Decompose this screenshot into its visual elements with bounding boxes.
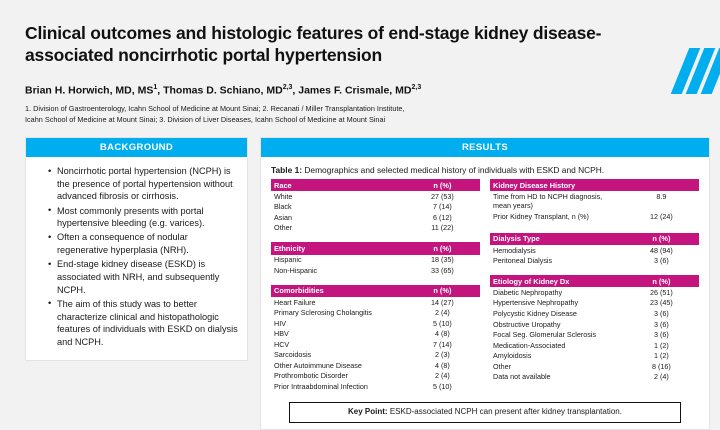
table-row: Prothrombotic Disorder2 (4) (271, 371, 480, 382)
table-row: Diabetic Nephropathy26 (51) (490, 287, 699, 298)
author-2-affiliation-marker: 2,3 (283, 84, 293, 91)
cell-label: Focal Seg. Glomerular Sclerosis (490, 329, 624, 340)
column-header-value (624, 179, 699, 191)
cell-value: 2 (4) (405, 371, 480, 382)
cell-label: Sarcoidosis (271, 350, 405, 361)
cell-value: 27 (53) (405, 191, 480, 202)
affiliation-line-2: Icahn School of Medicine at Mount Sinai;… (25, 115, 495, 125)
cell-label: HBV (271, 329, 405, 340)
cell-value: 4 (8) (405, 329, 480, 340)
table-row: HBV4 (8) (271, 329, 480, 340)
column-header-label: Etiology of Kidney Dx (490, 275, 624, 287)
table-row: Hispanic18 (35) (271, 255, 480, 266)
cell-value: 12 (24) (624, 211, 699, 222)
column-header-value: n (%) (624, 275, 699, 287)
results-panel: RESULTS Table 1: Demographics and select… (260, 137, 710, 430)
cell-label: Prothrombotic Disorder (271, 371, 405, 382)
cell-value: 3 (6) (624, 319, 699, 330)
cell-value: 3 (6) (624, 308, 699, 319)
cell-label: Obstructive Uropathy (490, 319, 624, 330)
cell-value: 8 (16) (624, 361, 699, 372)
cell-label: Hemodialysis (490, 245, 624, 256)
cell-label: Heart Failure (271, 297, 405, 308)
cell-value: 2 (3) (405, 350, 480, 361)
table-header-row: Etiology of Kidney Dx n (%) (490, 275, 699, 287)
key-point-label: Key Point: (348, 407, 388, 416)
author-3-name: , James F. Crismale, MD (292, 84, 411, 96)
column-header-label: Dialysis Type (490, 233, 624, 245)
list-item: End-stage kidney disease (ESKD) is assoc… (48, 258, 238, 296)
column-header-value: n (%) (405, 285, 480, 297)
cell-value: 18 (35) (405, 255, 480, 266)
table-row: Time from HD to NCPH diagnosis, mean yea… (490, 191, 699, 211)
cell-label: Black (271, 202, 405, 213)
author-list: Brian H. Horwich, MD, MS1, Thomas D. Sch… (25, 84, 692, 97)
table-row: Prior Intraabdominal Infection5 (10) (271, 381, 480, 392)
cell-value: 1 (2) (624, 340, 699, 351)
table-comorbidities: Comorbidities n (%) Heart Failure14 (27)… (271, 285, 480, 392)
cell-label: Amyloidosis (490, 351, 624, 362)
table-row: Other11 (22) (271, 223, 480, 234)
mount-sinai-logo-icon (668, 48, 720, 94)
table-dialysis-type: Dialysis Type n (%) Hemodialysis48 (94) … (490, 233, 699, 266)
cell-label: Diabetic Nephropathy (490, 287, 624, 298)
cell-value: 2 (4) (624, 372, 699, 383)
column-header-label: Ethnicity (271, 242, 405, 254)
table-row: Black7 (14) (271, 202, 480, 213)
author-3-affiliation-marker: 2,3 (411, 84, 421, 91)
background-bullet-list: Noncirrhotic portal hypertension (NCPH) … (35, 165, 238, 349)
list-item: Often a consequence of nodular regenerat… (48, 231, 238, 256)
cell-label: Other Autoimmune Disease (271, 360, 405, 371)
cell-value: 33 (65) (405, 265, 480, 276)
table-kidney-disease-history: Kidney Disease History Time from HD to N… (490, 179, 699, 222)
tables-left-column: Race n (%) White27 (53) Black7 (14) Asia… (271, 179, 480, 401)
table-row: Sarcoidosis2 (3) (271, 350, 480, 361)
results-panel-body: Table 1: Demographics and selected medic… (261, 157, 709, 429)
table-caption-text: Demographics and selected medical histor… (304, 165, 604, 175)
cell-value: 48 (94) (624, 245, 699, 256)
table-row: HCV7 (14) (271, 339, 480, 350)
cell-value: 26 (51) (624, 287, 699, 298)
table-row: Focal Seg. Glomerular Sclerosis3 (6) (490, 329, 699, 340)
cell-label: Prior Kidney Transplant, n (%) (490, 211, 624, 222)
table-row: Prior Kidney Transplant, n (%)12 (24) (490, 211, 699, 222)
cell-value: 3 (6) (624, 256, 699, 267)
poster-header: Clinical outcomes and histologic feature… (0, 0, 720, 125)
background-section-heading: BACKGROUND (26, 138, 247, 157)
table-row: Data not available2 (4) (490, 372, 699, 383)
key-point-text: ESKD-associated NCPH can present after k… (390, 407, 622, 416)
column-header-label: Comorbidities (271, 285, 405, 297)
table-row: Amyloidosis1 (2) (490, 351, 699, 362)
tables-right-column: Kidney Disease History Time from HD to N… (490, 179, 699, 401)
cell-label: White (271, 191, 405, 202)
table-race: Race n (%) White27 (53) Black7 (14) Asia… (271, 179, 480, 233)
table-header-row: Dialysis Type n (%) (490, 233, 699, 245)
list-item: The aim of this study was to better char… (48, 298, 238, 349)
table-row: Other8 (16) (490, 361, 699, 372)
table-row: White27 (53) (271, 191, 480, 202)
results-section-heading: RESULTS (261, 138, 709, 157)
column-header-label: Kidney Disease History (490, 179, 624, 191)
author-1-name: Brian H. Horwich, MD, MS (25, 84, 153, 96)
column-header-value: n (%) (405, 242, 480, 254)
column-header-label: Race (271, 179, 405, 191)
table-row: Hemodialysis48 (94) (490, 245, 699, 256)
cell-value: 6 (12) (405, 212, 480, 223)
table-header-row: Comorbidities n (%) (271, 285, 480, 297)
table-row: Hypertensive Nephropathy23 (45) (490, 298, 699, 309)
cell-label: Primary Sclerosing Cholangitis (271, 308, 405, 319)
poster-columns: BACKGROUND Noncirrhotic portal hypertens… (0, 137, 720, 430)
demographics-tables-grid: Race n (%) White27 (53) Black7 (14) Asia… (265, 179, 705, 401)
background-panel: BACKGROUND Noncirrhotic portal hypertens… (25, 137, 248, 361)
cell-label: Other (271, 223, 405, 234)
table-header-row: Race n (%) (271, 179, 480, 191)
cell-value: 1 (2) (624, 351, 699, 362)
list-item: Noncirrhotic portal hypertension (NCPH) … (48, 165, 238, 203)
cell-value: 11 (22) (405, 223, 480, 234)
cell-label: Other (490, 361, 624, 372)
table-etiology-of-kidney-dx: Etiology of Kidney Dx n (%) Diabetic Nep… (490, 275, 699, 382)
cell-label: Polycystic Kidney Disease (490, 308, 624, 319)
column-header-value: n (%) (624, 233, 699, 245)
table-row: Asian6 (12) (271, 212, 480, 223)
table-row: Polycystic Kidney Disease3 (6) (490, 308, 699, 319)
cell-label: Asian (271, 212, 405, 223)
table-row: Obstructive Uropathy3 (6) (490, 319, 699, 330)
cell-label: Hispanic (271, 255, 405, 266)
table-header-row: Kidney Disease History (490, 179, 699, 191)
cell-label: Peritoneal Dialysis (490, 256, 624, 267)
table-row: Heart Failure14 (27) (271, 297, 480, 308)
table-row: Peritoneal Dialysis3 (6) (490, 256, 699, 267)
cell-value: 8.9 (624, 191, 699, 211)
background-column: BACKGROUND Noncirrhotic portal hypertens… (25, 137, 248, 361)
column-header-value: n (%) (405, 179, 480, 191)
cell-label: Data not available (490, 372, 624, 383)
cell-label: Prior Intraabdominal Infection (271, 381, 405, 392)
cell-value: 5 (10) (405, 381, 480, 392)
cell-value: 4 (8) (405, 360, 480, 371)
cell-value: 23 (45) (624, 298, 699, 309)
cell-value: 5 (10) (405, 318, 480, 329)
affiliations: 1. Division of Gastroenterology, Icahn S… (25, 104, 495, 125)
background-panel-body: Noncirrhotic portal hypertension (NCPH) … (26, 157, 247, 360)
table-row: Medication-Associated1 (2) (490, 340, 699, 351)
list-item: Most commonly presents with portal hyper… (48, 205, 238, 230)
cell-label: Medication-Associated (490, 340, 624, 351)
cell-label: HIV (271, 318, 405, 329)
table-caption-label: Table 1: (271, 165, 302, 175)
cell-value: 3 (6) (624, 329, 699, 340)
author-2-name: , Thomas D. Schiano, MD (157, 84, 282, 96)
table-row: Primary Sclerosing Cholangitis2 (4) (271, 308, 480, 319)
page-title: Clinical outcomes and histologic feature… (25, 22, 665, 67)
table-row: Other Autoimmune Disease4 (8) (271, 360, 480, 371)
cell-label: Time from HD to NCPH diagnosis, mean yea… (490, 191, 624, 211)
table-caption: Table 1: Demographics and selected medic… (271, 165, 705, 175)
table-row: HIV5 (10) (271, 318, 480, 329)
key-point-callout: Key Point: ESKD-associated NCPH can pres… (289, 402, 681, 423)
cell-label: HCV (271, 339, 405, 350)
cell-value: 7 (14) (405, 202, 480, 213)
cell-label: Non-Hispanic (271, 265, 405, 276)
cell-value: 2 (4) (405, 308, 480, 319)
cell-value: 14 (27) (405, 297, 480, 308)
table-row: Non-Hispanic33 (65) (271, 265, 480, 276)
table-ethnicity: Ethnicity n (%) Hispanic18 (35) Non-Hisp… (271, 242, 480, 275)
results-column: RESULTS Table 1: Demographics and select… (260, 137, 710, 430)
table-header-row: Ethnicity n (%) (271, 242, 480, 254)
affiliation-line-1: 1. Division of Gastroenterology, Icahn S… (25, 104, 495, 114)
cell-label: Hypertensive Nephropathy (490, 298, 624, 309)
cell-value: 7 (14) (405, 339, 480, 350)
